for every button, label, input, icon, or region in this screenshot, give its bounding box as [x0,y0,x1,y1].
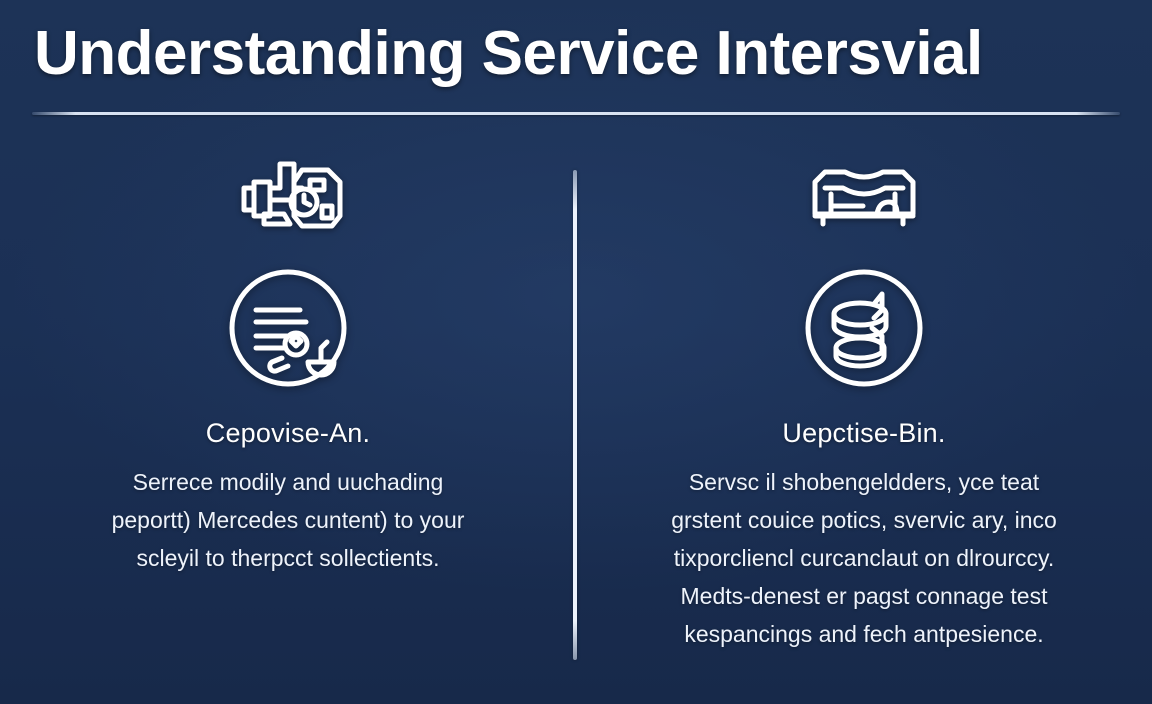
engine-icon [224,146,352,246]
body-line: grstent couice potics, svervic ary, inco [649,501,1079,539]
page-title: Understanding Service Intersvial [34,18,983,89]
body-line: kespancings and fech antpesience. [649,615,1079,653]
title-divider [32,112,1120,115]
card-body-left: Serrece modily and uuchading peportt) Me… [78,463,498,577]
body-line: peportt) Mercedes cuntent) to your [78,501,498,539]
body-line: tixporcliencl curcanclaut on dlrourccy. [649,539,1079,577]
infographic-slide: Understanding Service Intersvial [0,0,1152,704]
spiral-coil-circle-icon [798,262,930,394]
card-heading-right: Uepctise-Bin. [782,418,945,449]
column-left: Cepovise-An. Serrece modily and uuchadin… [0,130,576,704]
sofa-icon [805,146,923,246]
body-line: Serrece modily and uuchading [78,463,498,501]
header: Understanding Service Intersvial [0,0,1152,130]
columns-container: Cepovise-An. Serrece modily and uuchadin… [0,130,1152,704]
card-heading-left: Cepovise-An. [206,418,370,449]
body-line: scleyil to therpcct sollectients. [78,539,498,577]
card-body-right: Servsc il shobengeldders, yce teat grste… [649,463,1079,653]
service-record-circle-icon [222,262,354,394]
body-line: Medts-denest er pagst connage test [649,577,1079,615]
column-right: Uepctise-Bin. Servsc il shobengeldders, … [576,130,1152,704]
body-line: Servsc il shobengeldders, yce teat [649,463,1079,501]
